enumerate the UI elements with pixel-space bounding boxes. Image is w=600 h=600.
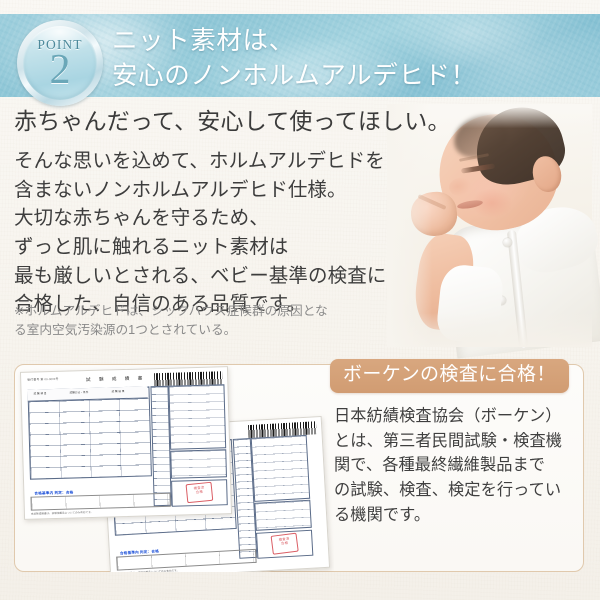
certificate-info-box-secondary [170, 449, 227, 479]
bouken-description-line: の試験、検査、検定を行ってい [334, 478, 574, 503]
certificate-stack: 受付番号 第 00-0000号 試 験 成 績 書 試 験 項 目 試験方法・条… [14, 364, 334, 572]
lede-heading: 赤ちゃんだって、安心して使ってほしい。 [14, 108, 451, 137]
certificate-footer-note: 本試験成績書は、試験依頼品についてのみ有効です。 [31, 510, 93, 516]
pass-ribbon: ボーケンの検査に合格！ [330, 359, 569, 393]
onesie-sleeve [435, 263, 505, 345]
certificate-title: 試 験 成 績 書 [86, 375, 146, 383]
certificate-stamp-area: 検査済 合格 [256, 530, 313, 559]
certificate-info-box [251, 435, 310, 502]
point-badge: POINT 2 [17, 20, 103, 106]
banner-title-line2: 安心のノンホルムアルデヒド！ [112, 59, 477, 94]
body-copy-line: 大切な赤ちゃんを守るため、 [14, 205, 386, 234]
banner-title-line1: ニット素材は、 [112, 24, 477, 59]
body-copy: そんな思いを込めて、ホルムアルデヒドを 含まないノンホルムアルデヒド仕様。 大切… [14, 148, 386, 320]
bouken-description-line: 関で、各種最終繊維製品まで [334, 453, 574, 478]
body-copy-line: ずっと肌に触れるニット素材は [14, 234, 386, 263]
certificate-id: 受付番号 第 00-0000号 [27, 377, 59, 382]
certificate-info-box [168, 384, 226, 450]
certificate-document-front: 受付番号 第 00-0000号 試 験 成 績 書 試 験 項 目 試験方法・条… [20, 366, 232, 520]
approval-stamp: 検査済 合格 [186, 482, 214, 503]
onesie-button-top [503, 238, 512, 247]
approval-stamp: 検査済 合格 [271, 533, 299, 555]
bouken-description: 日本紡績検査協会（ボーケン） とは、第三者民間試験・検査機 関で、各種最終繊維製… [334, 404, 574, 527]
baby-photo [387, 104, 592, 347]
bouken-description-line: とは、第三者民間試験・検査機 [334, 429, 574, 454]
table-col-header: 試験方法・条件 [70, 390, 89, 395]
point-badge-inner: POINT 2 [23, 26, 97, 100]
certificate-stamp-area: 検査済 合格 [171, 479, 228, 507]
table-col-header: 試 験 結 果 [111, 389, 124, 393]
certificate-footer-table [30, 493, 170, 511]
bouken-description-line: る機関です。 [334, 503, 574, 528]
body-copy-line: 最も厳しいとされる、ベビー基準の検査に [14, 263, 386, 292]
footnote-line: ※ホルムアルデヒドは、シックハウス症候群の原因とな [14, 302, 328, 321]
point-badge-number: 2 [50, 51, 71, 90]
banner-title: ニット素材は、 安心のノンホルムアルデヒド！ [112, 24, 477, 93]
footnote: ※ホルムアルデヒドは、シックハウス症候群の原因とな る室内空気汚染源の1つとされ… [14, 302, 328, 341]
certificate-info-box-secondary [254, 500, 311, 531]
body-copy-line: 含まないノンホルムアルデヒド仕様。 [14, 177, 386, 206]
table-col-header: 試 験 項 目 [34, 391, 47, 395]
body-copy-line: そんな思いを込めて、ホルムアルデヒドを [14, 148, 386, 177]
bouken-description-line: 日本紡績検査協会（ボーケン） [334, 404, 574, 429]
approval-stamp-line2: 合格 [187, 490, 211, 496]
footnote-line: る室内空気汚染源の1つとされている。 [14, 321, 328, 340]
